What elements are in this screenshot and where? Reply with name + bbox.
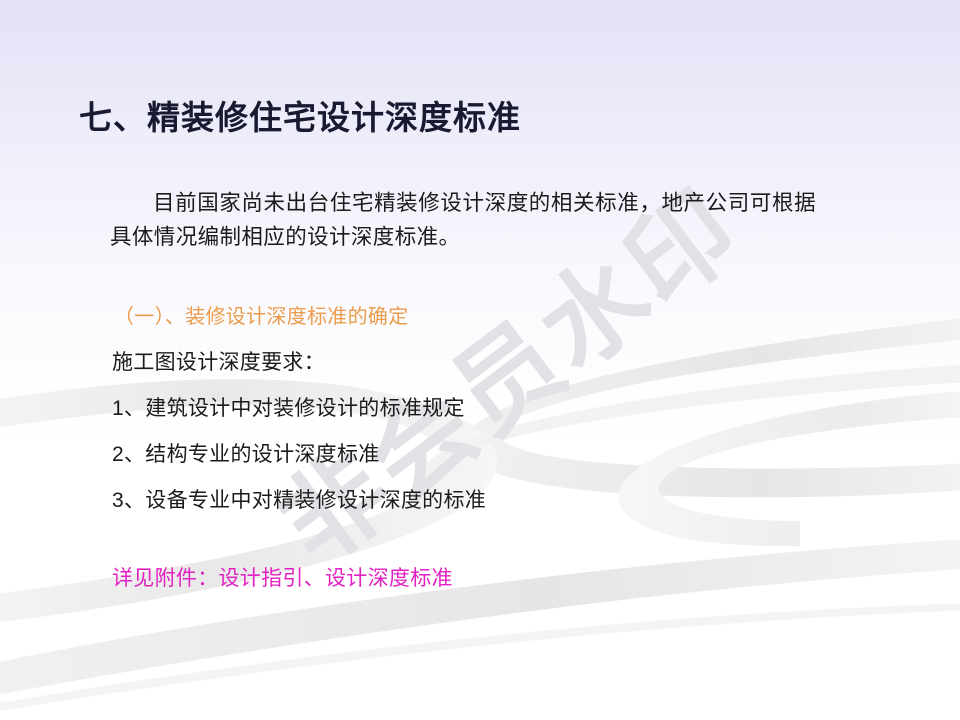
list-item: 3、设备专业中对精装修设计深度的标准 (112, 484, 486, 514)
presentation-slide: 非会员水印 七、精装修住宅设计深度标准 目前国家尚未出台住宅精装修设计深度的相关… (0, 0, 960, 720)
section-heading-one: （一）、装修设计深度标准的确定 (114, 300, 409, 329)
slide-content: 七、精装修住宅设计深度标准 目前国家尚未出台住宅精装修设计深度的相关标准，地产公… (0, 0, 960, 720)
list-item: 1、建筑设计中对装修设计的标准规定 (112, 392, 465, 422)
intro-paragraph: 目前国家尚未出台住宅精装修设计深度的相关标准，地产公司可根据具体情况编制相应的设… (110, 186, 816, 254)
list-item: 2、结构专业的设计深度标准 (112, 438, 380, 468)
attachment-note: 详见附件：设计指引、设计深度标准 (112, 562, 453, 592)
requirement-label: 施工图设计深度要求： (112, 346, 325, 376)
page-title: 七、精装修住宅设计深度标准 (79, 91, 521, 139)
